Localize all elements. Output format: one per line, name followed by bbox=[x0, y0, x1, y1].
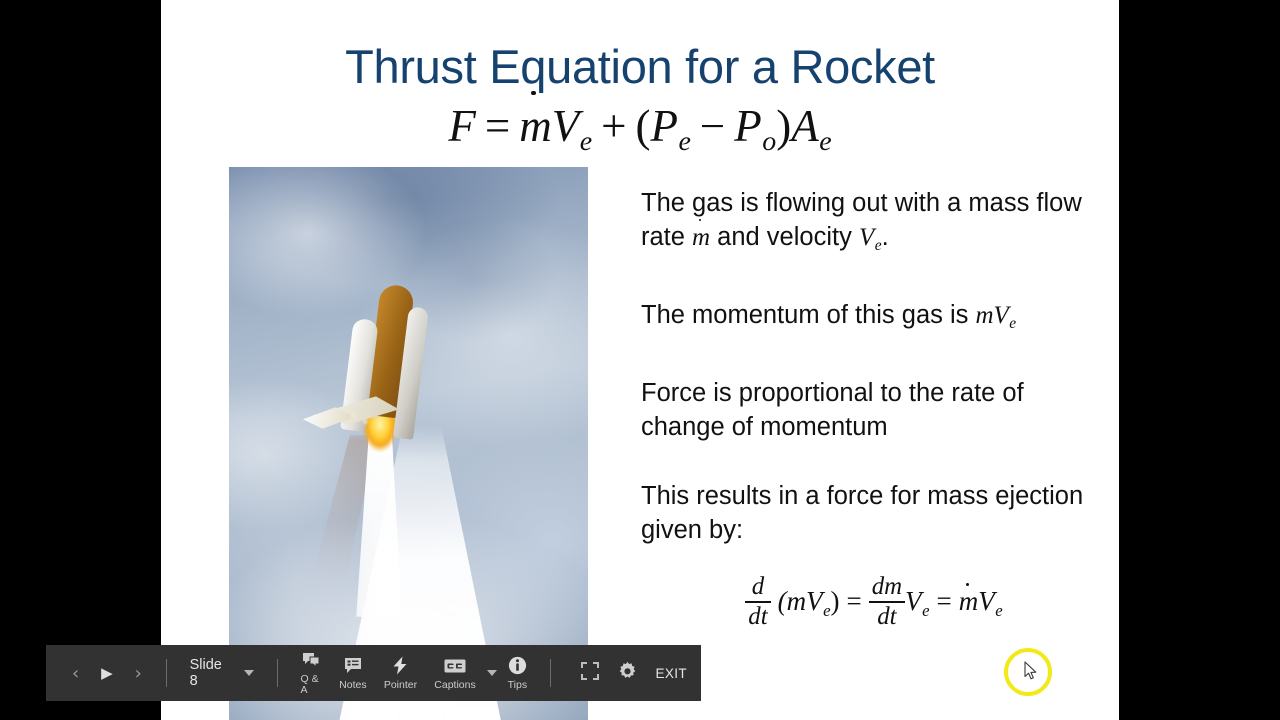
fraction-d-dt: d dt bbox=[745, 574, 770, 629]
paragraph-mass-ejection: This results in a force for mass ejectio… bbox=[641, 479, 1093, 547]
equation-equals: = bbox=[485, 101, 510, 151]
equation-open-paren: ( bbox=[636, 101, 651, 151]
slide-canvas: Thrust Equation for a Rocket F=mVe+(Pe−P… bbox=[161, 0, 1119, 720]
slide-number-label: Slide 8 bbox=[190, 657, 222, 689]
pointer-icon bbox=[392, 656, 408, 676]
arrow-pointer-icon bbox=[1024, 661, 1038, 681]
tips-icon bbox=[508, 656, 527, 676]
qa-button[interactable]: Q & A bbox=[301, 645, 322, 701]
tips-button[interactable]: Tips bbox=[508, 645, 527, 701]
captions-button[interactable]: Captions bbox=[434, 645, 475, 701]
presenter-toolbar[interactable]: ‹ ▶ › Slide 8 Q & A bbox=[46, 645, 701, 701]
page-title: Thrust Equation for a Rocket bbox=[161, 38, 1119, 96]
pointer-label: Pointer bbox=[384, 680, 417, 691]
momentum-rate-equation: d dt (mVe)= dm dt Ve=mVe bbox=[641, 574, 1093, 629]
mass-flow-rate-symbol-result: m bbox=[959, 586, 979, 617]
exit-pressure-symbol: P bbox=[651, 101, 679, 151]
slide-body-text: The gas is flowing out with a mass flow … bbox=[641, 186, 1093, 629]
exit-fullscreen-button[interactable] bbox=[580, 645, 600, 701]
qa-label: Q & A bbox=[301, 674, 322, 696]
fraction-dm-dt: dm dt bbox=[869, 574, 905, 629]
equation-close-paren: ) bbox=[776, 101, 791, 151]
tips-label: Tips bbox=[508, 680, 527, 691]
captions-icon bbox=[444, 656, 466, 676]
equation-plus: + bbox=[601, 101, 626, 151]
qa-icon bbox=[302, 650, 321, 670]
previous-slide-button[interactable]: ‹ bbox=[60, 645, 91, 701]
presentation-viewport: Thrust Equation for a Rocket F=mVe+(Pe−P… bbox=[0, 0, 1280, 720]
equation-lhs: F bbox=[448, 101, 476, 151]
chevron-down-icon[interactable] bbox=[244, 670, 254, 676]
mass-flow-rate-symbol: m bbox=[519, 95, 552, 157]
captions-chevron-down-icon[interactable] bbox=[487, 670, 497, 676]
play-button[interactable]: ▶ bbox=[91, 645, 122, 701]
gear-icon bbox=[617, 661, 638, 681]
divider bbox=[277, 659, 278, 687]
pointer-button[interactable]: Pointer bbox=[384, 645, 417, 701]
notes-label: Notes bbox=[339, 680, 366, 691]
paragraph-mass-flow: The gas is flowing out with a mass flow … bbox=[641, 186, 1093, 263]
equation-minus: − bbox=[700, 101, 725, 151]
momentum-group: (mV bbox=[778, 586, 823, 616]
exit-fullscreen-icon bbox=[580, 661, 600, 681]
ambient-pressure-symbol: P bbox=[734, 101, 762, 151]
exit-button[interactable]: EXIT bbox=[655, 666, 687, 681]
captions-label: Captions bbox=[434, 680, 475, 691]
notes-button[interactable]: Notes bbox=[339, 645, 366, 701]
mass-flow-rate-symbol-inline: m bbox=[692, 221, 710, 255]
exit-area-symbol: A bbox=[791, 101, 819, 151]
velocity-symbol-inline: Ve bbox=[859, 224, 882, 251]
next-slide-button[interactable]: › bbox=[123, 645, 154, 701]
divider bbox=[550, 659, 551, 687]
thrust-equation: F=mVe+(Pe−Po)Ae bbox=[161, 95, 1119, 173]
notes-icon bbox=[344, 656, 362, 676]
cloud-haze bbox=[229, 167, 588, 720]
exit-velocity-symbol: V bbox=[552, 101, 580, 151]
paragraph-momentum: The momentum of this gas is mVe bbox=[641, 298, 1093, 341]
momentum-expression: mVe bbox=[975, 302, 1016, 329]
paragraph-force-rate: Force is proportional to the rate of cha… bbox=[641, 376, 1093, 444]
slide-number-dropdown[interactable]: Slide 8 bbox=[190, 645, 254, 701]
divider bbox=[166, 659, 167, 687]
space-shuttle-launch-photo bbox=[229, 167, 588, 720]
settings-button[interactable] bbox=[617, 645, 638, 701]
